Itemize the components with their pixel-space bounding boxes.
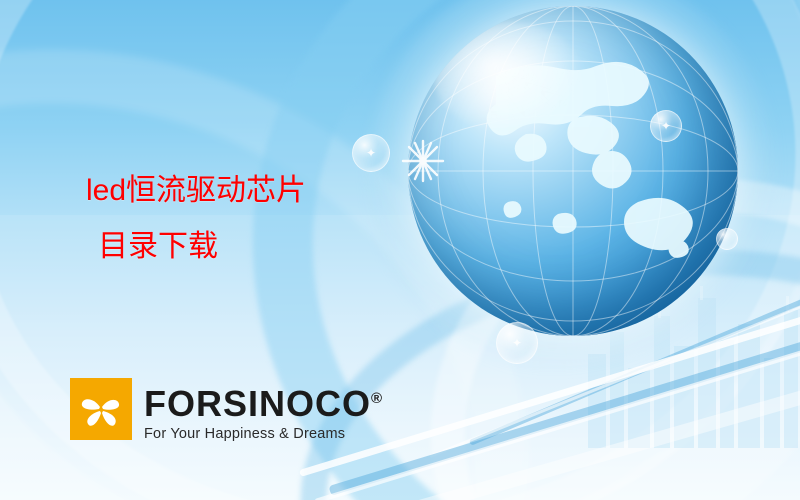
company-logo: FORSINOCO® For Your Happiness & Dreams bbox=[70, 378, 383, 442]
globe-highlight bbox=[434, 22, 584, 132]
bubble-icon: ✦ bbox=[496, 322, 538, 364]
logo-brand-name: FORSINOCO® bbox=[144, 380, 383, 423]
logo-mark bbox=[70, 378, 132, 440]
slide-title-line-1: led恒流驱动芯片 bbox=[86, 163, 466, 219]
bubble-icon bbox=[716, 228, 738, 250]
bubble-icon: ✦ bbox=[650, 110, 682, 142]
logo-text: FORSINOCO® For Your Happiness & Dreams bbox=[144, 378, 383, 442]
logo-tagline: For Your Happiness & Dreams bbox=[144, 426, 383, 442]
registered-trademark-icon: ® bbox=[371, 390, 383, 407]
presentation-slide: ✦ ✦ ✦ led恒流驱动芯片 目录下载 FORSINOCO® For Your… bbox=[0, 0, 800, 500]
slide-title-line-2: 目录下载 bbox=[86, 219, 466, 275]
four-leaf-clover-icon bbox=[78, 386, 124, 432]
logo-brand-word: FORSINOCO bbox=[144, 383, 371, 424]
bubble-sparkle-icon: ✦ bbox=[651, 111, 681, 141]
slide-title: led恒流驱动芯片 目录下载 bbox=[86, 163, 466, 275]
bubble-sparkle-icon: ✦ bbox=[497, 323, 537, 363]
